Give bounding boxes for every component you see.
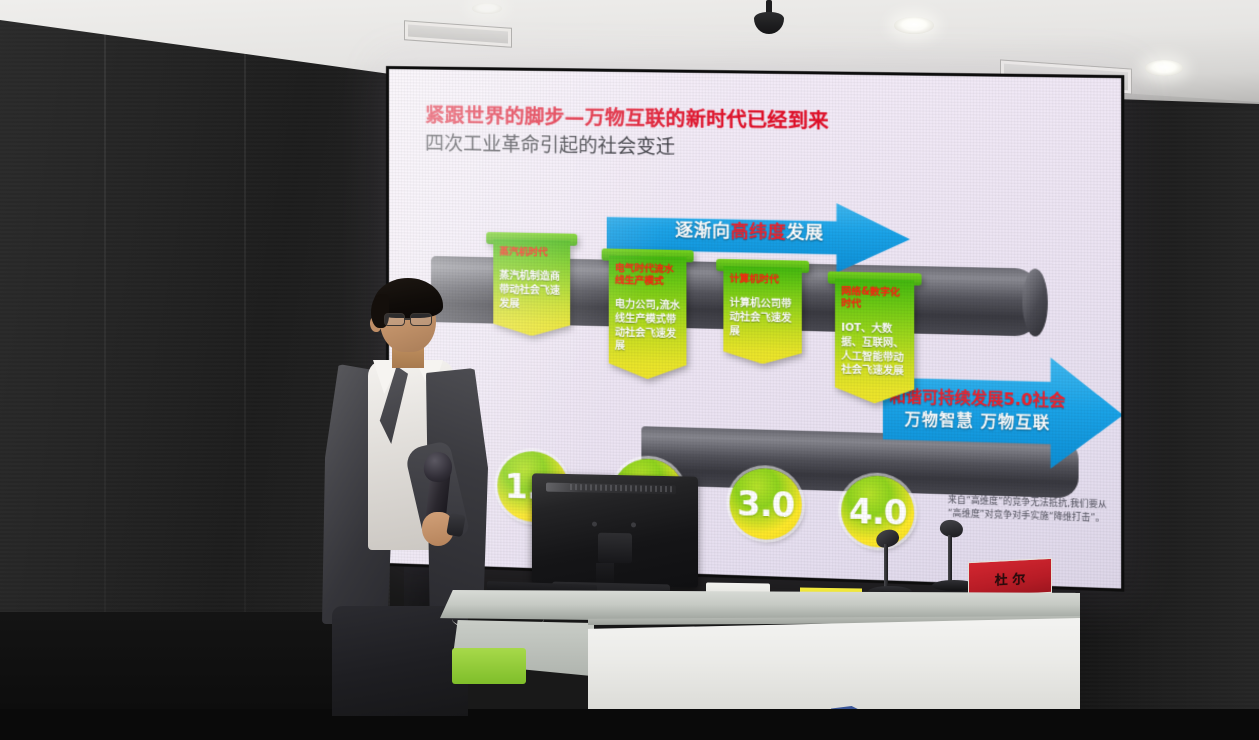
era-header: 电气时代流水线生产模式 xyxy=(615,263,681,289)
monitor-port-hub xyxy=(598,533,632,564)
green-desk-pad xyxy=(452,648,526,684)
institution-logo: 浙江机电职业技术学院 MECHANICAL & ELECTRICAL ENGIN… xyxy=(786,706,1116,740)
podium-front-panel: 浙江机电职业技术学院 MECHANICAL & ELECTRICAL ENGIN… xyxy=(588,618,1080,709)
lecture-hall-scene: 紧跟世界的脚步—万物互联的新时代已经到来 四次工业革命引起的社会变迁 逐渐向高纬… xyxy=(0,0,1259,709)
era-banner-4: 网络&数字化时代 IOT、大数据、互联网、人工智能带动社会飞速发展 xyxy=(835,279,914,405)
arrow-label-highlight: 高纬度 xyxy=(731,222,787,243)
wall-panel-seam xyxy=(244,0,246,709)
era-banner-1: 蒸汽机时代 蒸汽机制造商带动社会飞速发展 xyxy=(493,239,570,337)
top-blue-arrow-label: 逐渐向高纬度发展 xyxy=(627,216,872,246)
eyeglasses-left-lens xyxy=(384,313,405,326)
banner-body: 网络&数字化时代 IOT、大数据、互联网、人工智能带动社会飞速发展 xyxy=(835,279,914,405)
monitor-vesa-screws xyxy=(592,522,636,528)
era-description: IOT、大数据、互联网、人工智能带动社会飞速发展 xyxy=(841,322,909,380)
slide-footnote: 来自“高维度”的竞争无法抵抗,我们要从“高维度”对竞争对手实施“降维打击”。 xyxy=(948,494,1117,527)
presentation-slide: 紧跟世界的脚步—万物互联的新时代已经到来 四次工业革命引起的社会变迁 逐渐向高纬… xyxy=(389,69,1121,588)
wall-panel-seam xyxy=(104,0,106,709)
arrow-label-prefix: 逐渐向 xyxy=(675,221,730,242)
era-description: 蒸汽机制造商带动社会飞速发展 xyxy=(499,269,565,312)
era-header: 计算机时代 xyxy=(730,273,797,287)
eyeglasses-bridge xyxy=(404,318,411,320)
podium: 浙江机电职业技术学院 MECHANICAL & ELECTRICAL ENGIN… xyxy=(440,566,1080,709)
institution-name-cn: 浙江机电职业技术学院 xyxy=(872,707,1072,732)
era-description: 计算机公司带动社会飞速发展 xyxy=(730,297,797,341)
institution-logo-icon xyxy=(831,706,865,732)
ceiling-downlight xyxy=(894,17,934,34)
pipe-end-cap xyxy=(1022,268,1047,336)
era-header: 网络&数字化时代 xyxy=(841,286,909,312)
arrow-label-suffix: 发展 xyxy=(786,223,823,244)
era-header: 蒸汽机时代 xyxy=(499,246,565,259)
era-description: 电力公司,流水线生产模式带动社会飞速发展 xyxy=(615,298,681,355)
eyeglasses-right-lens xyxy=(410,313,432,326)
ceiling-downlight xyxy=(472,3,502,14)
ceiling-downlight xyxy=(1145,60,1183,76)
era-banner-2: 电气时代流水线生产模式 电力公司,流水线生产模式带动社会飞速发展 xyxy=(609,256,687,380)
banner-body: 计算机时代 计算机公司带动社会飞速发展 xyxy=(723,266,801,365)
slide-subtitle: 四次工业革命引起的社会变迁 xyxy=(425,132,1064,167)
banner-body: 蒸汽机时代 蒸汽机制造商带动社会飞速发展 xyxy=(493,239,570,337)
banner-body: 电气时代流水线生产模式 电力公司,流水线生产模式带动社会飞速发展 xyxy=(609,256,687,380)
institution-name-en: MECHANICAL & ELECTRICAL ENGINEERING xyxy=(786,733,1116,740)
era-banner-3: 计算机时代 计算机公司带动社会飞速发展 xyxy=(723,266,801,365)
